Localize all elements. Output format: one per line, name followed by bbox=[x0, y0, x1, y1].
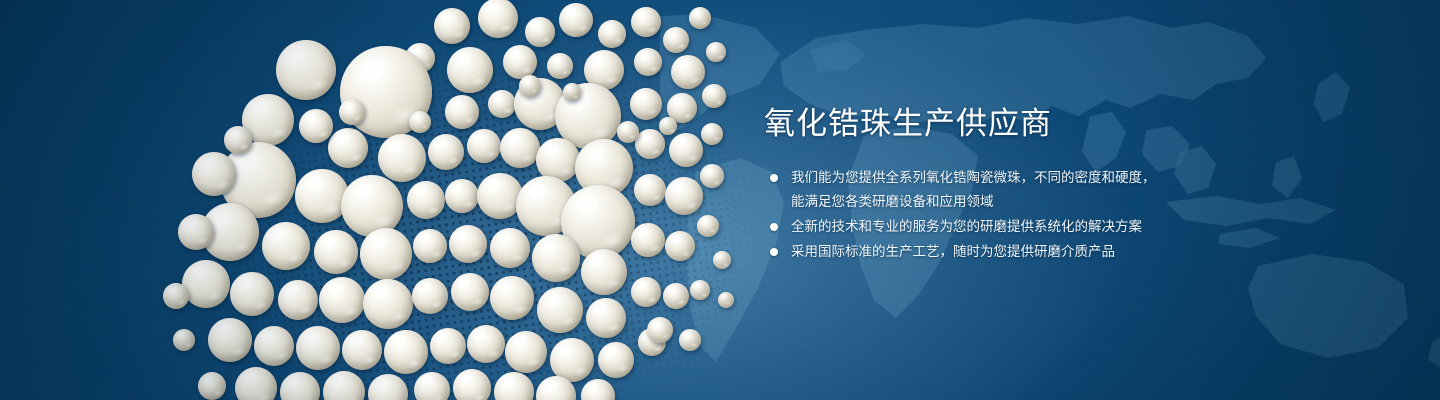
bullet-dot-icon bbox=[770, 248, 778, 256]
list-item: 我们能为您提供全系列氧化锆陶瓷微珠，不同的密度和硬度， 能满足您各类研磨设备和应… bbox=[764, 166, 1234, 214]
bullet-dot-icon bbox=[770, 223, 778, 231]
bullet-line-1: 采用国际标准的生产工艺，随时为您提供研磨介质产品 bbox=[791, 240, 1234, 264]
page-title: 氧化锆珠生产供应商 bbox=[764, 104, 1234, 144]
list-item: 全新的技术和专业的服务为您的研磨提供系统化的解决方案 bbox=[764, 215, 1234, 239]
bullet-dot-icon bbox=[770, 174, 778, 182]
bullet-line-1: 我们能为您提供全系列氧化锆陶瓷微珠，不同的密度和硬度， bbox=[791, 166, 1234, 190]
bullet-line-2: 能满足您各类研磨设备和应用领域 bbox=[791, 190, 1234, 214]
banner-copy-block: 氧化锆珠生产供应商 我们能为您提供全系列氧化锆陶瓷微珠，不同的密度和硬度， 能满… bbox=[764, 104, 1234, 265]
list-item: 采用国际标准的生产工艺，随时为您提供研磨介质产品 bbox=[764, 240, 1234, 264]
bullet-line-1: 全新的技术和专业的服务为您的研磨提供系统化的解决方案 bbox=[791, 215, 1234, 239]
hero-banner: 氧化锆珠生产供应商 我们能为您提供全系列氧化锆陶瓷微珠，不同的密度和硬度， 能满… bbox=[0, 0, 1440, 400]
feature-bullet-list: 我们能为您提供全系列氧化锆陶瓷微珠，不同的密度和硬度， 能满足您各类研磨设备和应… bbox=[764, 166, 1234, 264]
